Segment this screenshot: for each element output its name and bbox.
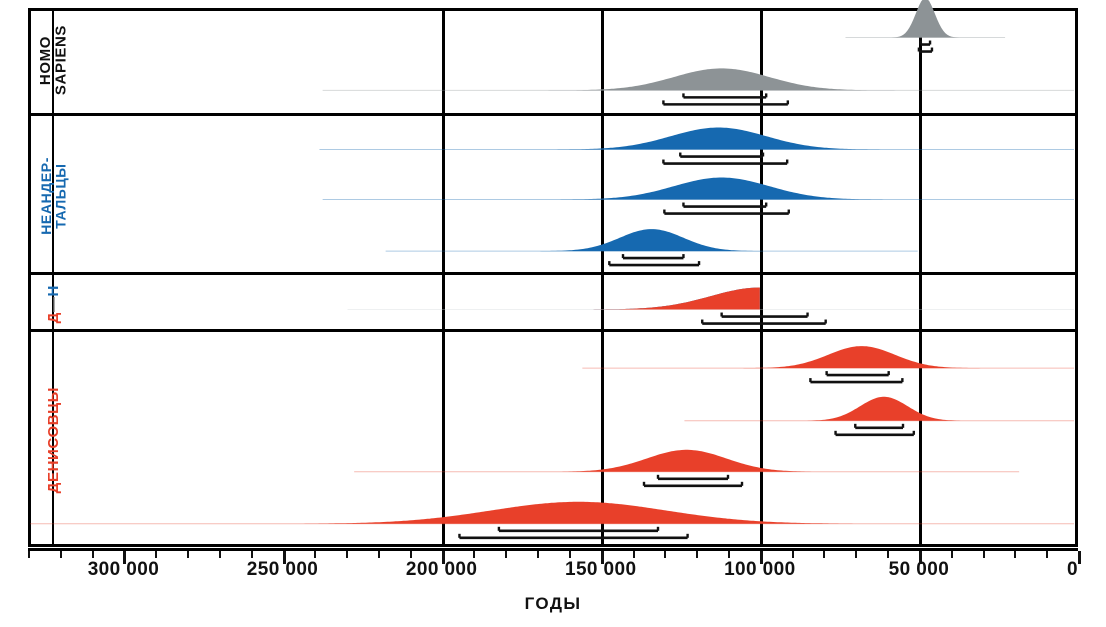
axis-tick-minor xyxy=(28,551,30,558)
axis-tick-minor xyxy=(251,551,253,558)
axis-tick-minor xyxy=(410,551,412,558)
outer-confidence-interval xyxy=(644,482,742,486)
axis-tick-minor xyxy=(696,551,698,558)
axis-tick-minor xyxy=(378,551,380,558)
axis-tick-label: 300 000 xyxy=(88,559,159,581)
outer-confidence-interval xyxy=(919,48,932,52)
density-curve xyxy=(28,441,1078,492)
inner-confidence-interval xyxy=(683,94,766,98)
axis-tick-minor xyxy=(314,551,316,558)
specimen-row xyxy=(28,493,1078,544)
specimen-row xyxy=(28,120,1078,169)
axis-tick-label: 200 000 xyxy=(406,559,477,581)
axis-tick-minor xyxy=(219,551,221,558)
axis-tick-minor xyxy=(1014,551,1016,558)
axis-tick-minor xyxy=(792,551,794,558)
outer-confidence-interval xyxy=(664,209,788,213)
axis-tick-minor xyxy=(187,551,189,558)
axis-tick-minor xyxy=(346,551,348,558)
axis-tick-minor xyxy=(92,551,94,558)
density-curve xyxy=(28,170,1078,219)
density-curve xyxy=(28,390,1078,441)
density-curve xyxy=(28,120,1078,169)
axis-tick-minor xyxy=(823,551,825,558)
axis-tick-minor xyxy=(155,551,157,558)
density-curve-group xyxy=(28,493,1078,539)
outer-confidence-interval xyxy=(702,319,825,323)
axis-tick-minor xyxy=(473,551,475,558)
axis-tick-label: 150 000 xyxy=(565,559,636,581)
density-curve-group xyxy=(28,390,1078,436)
axis-tick-label: 50 000 xyxy=(889,559,950,581)
axis-tick-minor xyxy=(60,551,62,558)
axis-tick-minor xyxy=(728,551,730,558)
inner-confidence-interval xyxy=(623,254,683,258)
density-curve xyxy=(28,57,1078,113)
density-curve-group xyxy=(28,170,1078,216)
axis-tick-minor xyxy=(855,551,857,558)
specimen-row xyxy=(28,219,1078,272)
axis-tick-label: 250 000 xyxy=(247,559,318,581)
axis-tick-label: 0 xyxy=(1067,559,1078,581)
specimen-row xyxy=(28,170,1078,219)
density-curve-group xyxy=(28,336,1078,382)
density-curve xyxy=(28,8,1078,57)
outer-confidence-interval xyxy=(609,261,699,265)
axis-tick-minor xyxy=(633,551,635,558)
outer-confidence-interval xyxy=(663,160,787,164)
density-curve xyxy=(28,280,1078,329)
axis-tick-minor xyxy=(505,551,507,558)
specimen-row xyxy=(28,57,1078,113)
inner-confidence-interval xyxy=(658,475,728,479)
axis-tick-major xyxy=(1078,551,1081,564)
density-curve-group xyxy=(28,120,1078,166)
axis-tick-minor xyxy=(887,551,889,558)
age-distribution-chart: HOMO SAPIENSНЕАНДЕР- ТАЛЬЦЫД—НДЕНИСОВЦЫ … xyxy=(0,0,1106,627)
axis-tick-minor xyxy=(664,551,666,558)
inner-confidence-interval xyxy=(722,312,808,316)
specimen-row xyxy=(28,441,1078,492)
inner-confidence-interval xyxy=(499,526,658,530)
group-divider xyxy=(28,544,1078,547)
x-axis-title: ГОДЫ xyxy=(0,594,1106,614)
inner-confidence-interval xyxy=(680,153,763,157)
axis-tick-minor xyxy=(569,551,571,558)
specimen-row xyxy=(28,390,1078,441)
axis-tick-minor xyxy=(1046,551,1048,558)
inner-confidence-interval xyxy=(683,202,766,206)
axis-tick-minor xyxy=(537,551,539,558)
specimen-row xyxy=(28,280,1078,329)
outer-confidence-interval xyxy=(810,379,902,383)
density-curve-group xyxy=(28,57,1078,103)
density-curve-group xyxy=(28,219,1078,265)
inner-confidence-interval xyxy=(827,372,889,376)
outer-confidence-interval xyxy=(663,101,787,105)
density-curve-group xyxy=(28,8,1078,54)
density-curve-group xyxy=(28,441,1078,487)
density-curve xyxy=(28,336,1078,389)
outer-confidence-interval xyxy=(459,533,687,537)
specimen-row xyxy=(28,336,1078,389)
density-curve xyxy=(28,219,1078,272)
density-curve-group xyxy=(28,280,1078,326)
inner-confidence-interval xyxy=(921,41,930,45)
axis-tick-label: 100 000 xyxy=(724,559,795,581)
density-curve xyxy=(28,493,1078,544)
plot-frame: HOMO SAPIENSНЕАНДЕР- ТАЛЬЦЫД—НДЕНИСОВЦЫ xyxy=(28,8,1078,544)
outer-confidence-interval xyxy=(836,431,914,435)
specimen-row xyxy=(28,8,1078,57)
axis-tick-minor xyxy=(951,551,953,558)
inner-confidence-interval xyxy=(855,424,903,428)
axis-tick-minor xyxy=(983,551,985,558)
